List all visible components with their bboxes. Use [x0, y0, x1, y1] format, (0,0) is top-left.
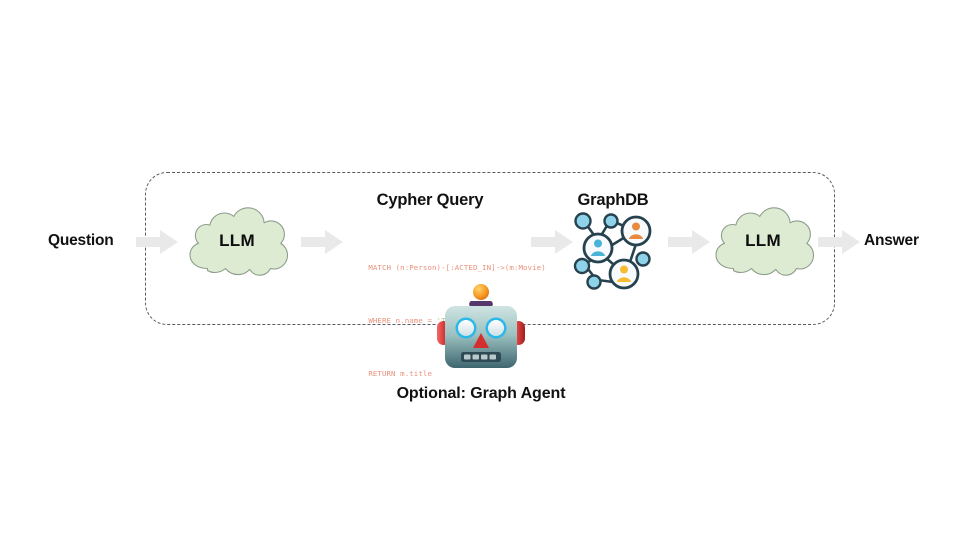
graph-node-person-yellow — [610, 260, 638, 288]
code-line-3-text: RETURN m.title — [368, 369, 432, 378]
input-label-question: Question — [48, 232, 114, 250]
robot-icon — [433, 283, 529, 375]
cloud-icon — [181, 204, 293, 278]
robot-antenna-icon — [473, 284, 489, 300]
diagram-canvas: Question LLM Cypher Query MATCH (n:Perso… — [0, 0, 960, 540]
code-line-2-text: WHERE n.name = — [368, 316, 436, 325]
arrow-llm1-to-cypher — [301, 230, 343, 254]
arrow-question-to-llm1 — [136, 230, 178, 254]
stage-graphdb[interactable] — [568, 212, 660, 294]
cloud-icon — [707, 204, 819, 278]
graph-node-person-blue — [584, 234, 612, 262]
graph-node-person-orange — [622, 217, 650, 245]
graph-agent-robot[interactable] — [433, 283, 529, 375]
arrow-llm2-to-answer — [818, 230, 860, 254]
arrow-graphdb-to-llm2 — [668, 230, 710, 254]
stage-cypher-title: Cypher Query — [340, 191, 520, 210]
arrow-cypher-to-graphdb — [531, 230, 573, 254]
stage-llm-2[interactable]: LLM — [707, 204, 819, 278]
stage-graphdb-title: GraphDB — [553, 191, 673, 210]
output-label-answer: Answer — [864, 232, 919, 250]
code-line-1: MATCH (n:Person)-[:ACTED_IN]->(m:Movie) — [341, 252, 546, 284]
graph-network-icon — [568, 212, 660, 294]
code-line-1-text: MATCH (n:Person)-[:ACTED_IN]->(m:Movie) — [368, 263, 545, 272]
graph-agent-caption: Optional: Graph Agent — [331, 385, 631, 403]
stage-llm-1[interactable]: LLM — [181, 204, 293, 278]
